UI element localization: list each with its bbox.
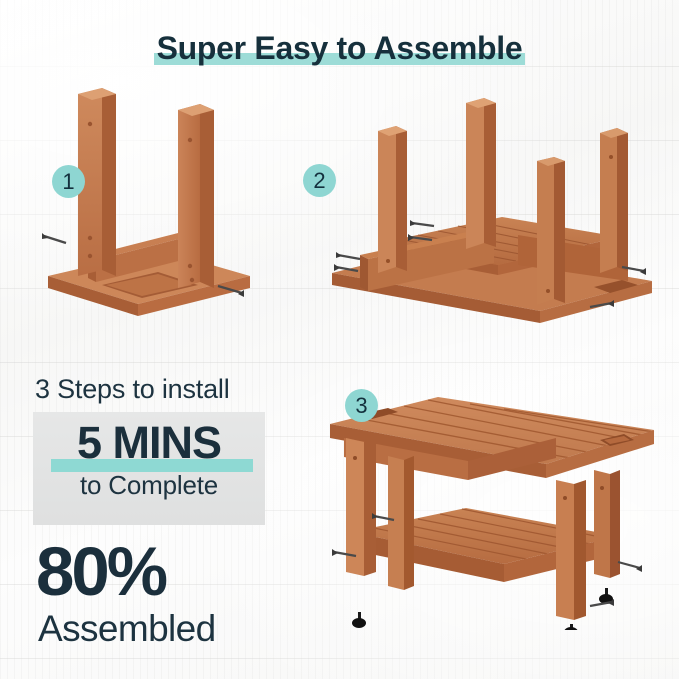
leg-back-right xyxy=(600,128,628,273)
step-2-illustration xyxy=(322,95,662,330)
leg-right-face xyxy=(178,104,200,288)
leg-back-left xyxy=(466,98,496,249)
steps-to-install-label: 3 Steps to install xyxy=(35,374,230,405)
foot-pad-front-left xyxy=(352,612,366,628)
bench-leg-back-right xyxy=(594,470,620,578)
leg-left-screw-hole-mid xyxy=(88,236,92,240)
page-title-container: Super Easy to Assemble xyxy=(0,28,679,68)
step-badge-3[interactable]: 3 xyxy=(345,389,378,422)
bench-leg-back-left xyxy=(388,456,414,590)
leg-right-screw-hole-mid xyxy=(188,264,192,268)
leg-right-side xyxy=(200,104,214,288)
leg-right-screw-hole-top xyxy=(188,138,192,142)
percent-assembled-label: Assembled xyxy=(38,608,216,650)
mins-subtitle: to Complete xyxy=(33,470,265,500)
leg-left-side xyxy=(102,88,116,276)
screw-left xyxy=(42,233,66,243)
infographic-canvas: Super Easy to Assemble xyxy=(0,0,679,679)
mins-value: 5 MINS xyxy=(33,412,265,468)
leg-left-screw-hole-low xyxy=(88,254,92,258)
step-1-illustration xyxy=(30,80,260,325)
page-title: Super Easy to Assemble xyxy=(157,28,523,68)
side-rail-end xyxy=(360,255,368,291)
percent-assembled-value: 80% xyxy=(36,536,165,608)
foot-pad-front-right xyxy=(564,624,578,630)
step-badge-2[interactable]: 2 xyxy=(303,164,336,197)
step-badge-1[interactable]: 1 xyxy=(52,165,85,198)
leg-front-left xyxy=(378,126,407,273)
leg-left-screw-hole-top xyxy=(88,122,92,126)
leg-right-screw-hole-low xyxy=(190,278,194,282)
leg-front-right xyxy=(537,157,565,305)
time-to-complete-panel: 5 MINS to Complete xyxy=(33,412,265,525)
bench-leg-front-right xyxy=(556,480,586,620)
